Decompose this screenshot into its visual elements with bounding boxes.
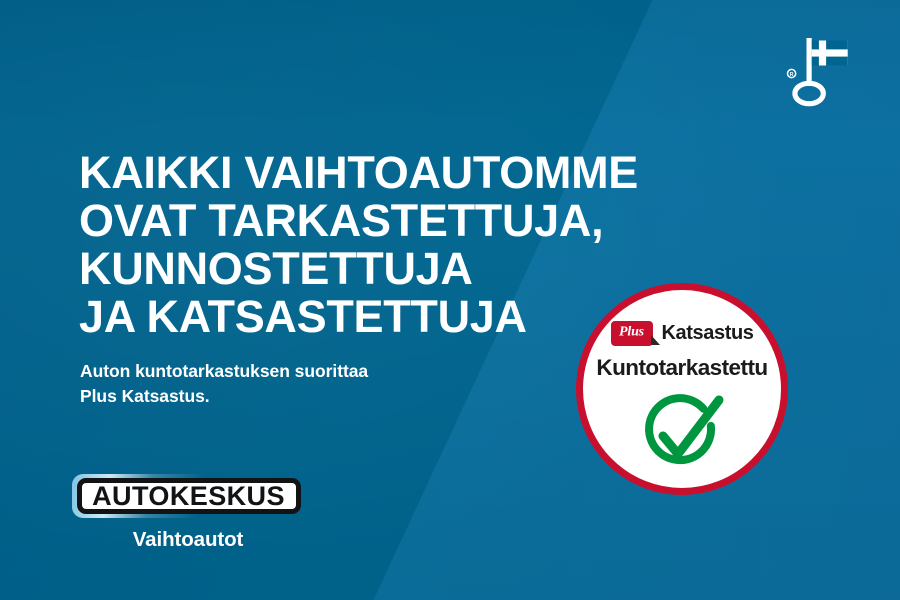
plus-mark-icon: Plus [611, 321, 653, 346]
logo-plate-outline: AUTOKESKUS [72, 474, 304, 518]
green-check-circle-icon [636, 392, 728, 476]
avainlippu-key-flag-icon: R [781, 22, 865, 108]
brand-word-label: Katsastus [662, 323, 754, 343]
autokeskus-logo[interactable]: AUTOKESKUS Vaihtoautot [72, 474, 312, 552]
plus-mark-tail-icon [651, 335, 660, 345]
plus-katsastus-logo: Plus Katsastus [611, 320, 754, 346]
promo-banner: Kaikki vaihtoautomme ovat tarkastettuja,… [0, 0, 900, 600]
badge-title: Kuntotarkastettu [596, 357, 767, 380]
svg-text:R: R [790, 72, 794, 78]
plus-mark-label: Plus [619, 326, 644, 340]
registered-mark-icon: R [788, 69, 796, 78]
status-badge: Plus Katsastus Kuntotarkastettu [576, 283, 788, 495]
subtitle-text: Auton kuntotarkastuksen suorittaa Plus K… [80, 359, 500, 409]
logo-plate: AUTOKESKUS [77, 478, 301, 514]
logo-plate-label: AUTOKESKUS [93, 483, 286, 510]
logo-tagline: Vaihtoautot [72, 528, 304, 552]
